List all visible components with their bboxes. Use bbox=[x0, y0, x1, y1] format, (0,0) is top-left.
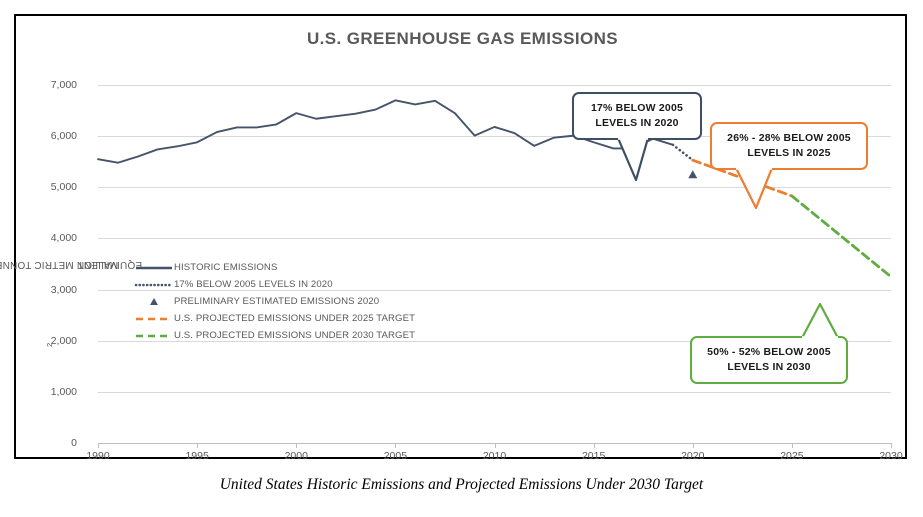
legend-swatch-target_2020 bbox=[134, 279, 174, 291]
x-tick-mark bbox=[891, 443, 892, 448]
y-tick-label: 2,000 bbox=[51, 335, 77, 347]
legend-swatch-target_2025 bbox=[134, 313, 174, 325]
legend-label-historic: HISTORIC EMISSIONS bbox=[174, 262, 277, 273]
series-line-target_2020 bbox=[673, 145, 693, 160]
x-tick-mark bbox=[693, 443, 694, 448]
x-tick-mark bbox=[296, 443, 297, 448]
x-tick-mark bbox=[594, 443, 595, 448]
x-tick-mark bbox=[98, 443, 99, 448]
x-tick-label: 2030 bbox=[879, 450, 902, 462]
chart-legend: HISTORIC EMISSIONS17% BELOW 2005 LEVELS … bbox=[134, 259, 415, 344]
chart-title: U.S. GREENHOUSE GAS EMISSIONS bbox=[16, 29, 909, 49]
x-tick-label: 1995 bbox=[185, 450, 208, 462]
callout-2025-line1: 26% - 28% BELOW 2005 bbox=[712, 131, 866, 146]
y-tick-label: 7,000 bbox=[51, 79, 77, 91]
callout-2025-line2: LEVELS IN 2025 bbox=[712, 146, 866, 161]
legend-item-preliminary_2020[interactable]: PRELIMINARY ESTIMATED EMISSIONS 2020 bbox=[134, 293, 415, 310]
callout-2030-line1: 50% - 52% BELOW 2005 bbox=[692, 345, 846, 360]
callout-2025-tail bbox=[732, 168, 778, 210]
x-tick-label: 2000 bbox=[285, 450, 308, 462]
figure-caption: United States Historic Emissions and Pro… bbox=[0, 476, 923, 494]
x-tick-mark bbox=[495, 443, 496, 448]
x-tick-label: 2005 bbox=[384, 450, 407, 462]
x-tick-mark bbox=[792, 443, 793, 448]
legend-item-historic[interactable]: HISTORIC EMISSIONS bbox=[134, 259, 415, 276]
callout-2030-tail bbox=[796, 306, 846, 340]
annotation-callout-2025: 26% - 28% BELOW 2005 LEVELS IN 2025 bbox=[710, 122, 868, 170]
x-tick-label: 2010 bbox=[483, 450, 506, 462]
callout-2030-line2: LEVELS IN 2030 bbox=[692, 360, 846, 375]
x-tick-label: 2015 bbox=[582, 450, 605, 462]
callout-2020-tail bbox=[614, 138, 654, 182]
figure-root: U.S. GREENHOUSE GAS EMISSIONS MILLION ME… bbox=[0, 0, 923, 517]
x-tick-label: 2025 bbox=[780, 450, 803, 462]
y-tick-label: 1,000 bbox=[51, 386, 77, 398]
legend-item-target_2030[interactable]: U.S. PROJECTED EMISSIONS UNDER 2030 TARG… bbox=[134, 327, 415, 344]
x-tick-label: 1990 bbox=[86, 450, 109, 462]
x-tick-label: 2020 bbox=[681, 450, 704, 462]
legend-item-target_2025[interactable]: U.S. PROJECTED EMISSIONS UNDER 2025 TARG… bbox=[134, 310, 415, 327]
y-tick-label: 0 bbox=[71, 437, 77, 449]
legend-label-target_2030: U.S. PROJECTED EMISSIONS UNDER 2030 TARG… bbox=[174, 330, 415, 341]
y-tick-label: 5,000 bbox=[51, 181, 77, 193]
legend-swatch-target_2030 bbox=[134, 330, 174, 342]
legend-swatch-historic bbox=[134, 262, 174, 274]
series-line-target_2030 bbox=[792, 196, 891, 277]
callout-2020-line1: 17% BELOW 2005 bbox=[574, 101, 700, 116]
legend-label-target_2025: U.S. PROJECTED EMISSIONS UNDER 2025 TARG… bbox=[174, 313, 415, 324]
y-tick-label: 4,000 bbox=[51, 232, 77, 244]
legend-label-target_2020: 17% BELOW 2005 LEVELS IN 2020 bbox=[174, 279, 333, 290]
annotation-callout-2020: 17% BELOW 2005 LEVELS IN 2020 bbox=[572, 92, 702, 140]
y-tick-label: 6,000 bbox=[51, 130, 77, 142]
legend-label-preliminary_2020: PRELIMINARY ESTIMATED EMISSIONS 2020 bbox=[174, 296, 379, 307]
annotation-callout-2030: 50% - 52% BELOW 2005 LEVELS IN 2030 bbox=[690, 336, 848, 384]
legend-swatch-preliminary_2020 bbox=[134, 296, 174, 308]
series-marker-preliminary_2020 bbox=[688, 170, 697, 178]
chart-container: U.S. GREENHOUSE GAS EMISSIONS MILLION ME… bbox=[14, 14, 907, 459]
x-tick-mark bbox=[197, 443, 198, 448]
callout-2020-line2: LEVELS IN 2020 bbox=[574, 116, 700, 131]
legend-item-target_2020[interactable]: 17% BELOW 2005 LEVELS IN 2020 bbox=[134, 276, 415, 293]
x-tick-mark bbox=[395, 443, 396, 448]
y-tick-label: 3,000 bbox=[51, 284, 77, 296]
